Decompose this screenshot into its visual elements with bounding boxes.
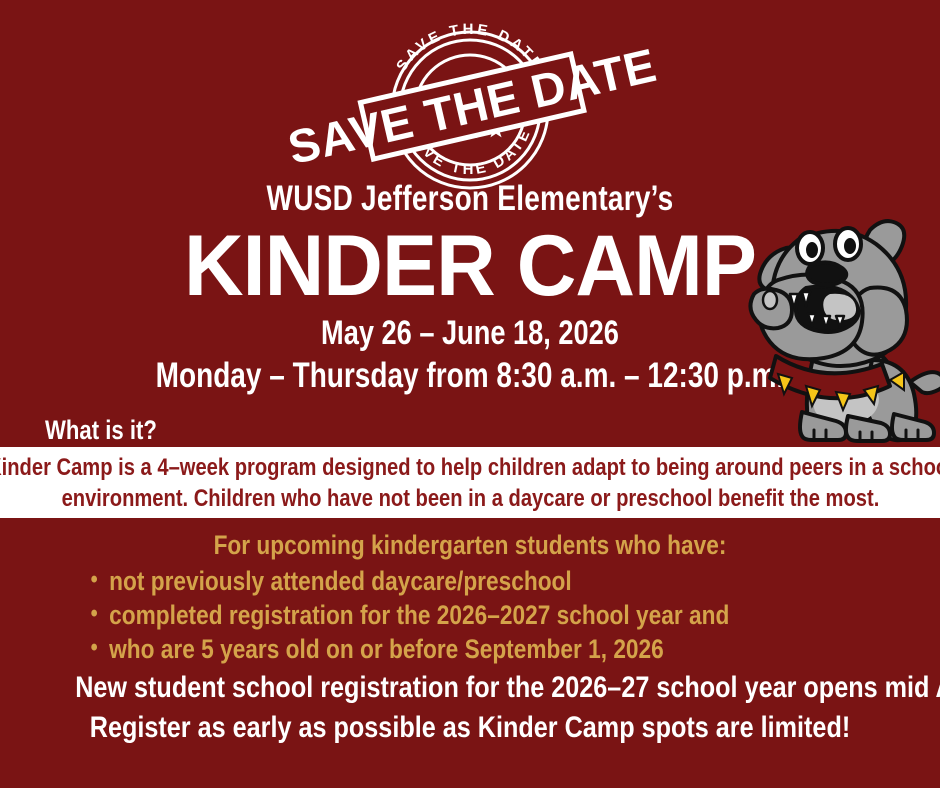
program-dates: May 26 – June 18, 2026 [94,313,846,353]
list-item: not previously attended daycare/preschoo… [89,564,729,598]
eligibility-list: not previously attended daycare/preschoo… [89,564,851,666]
save-the-date-stamp: SAVE THE DATE SAVE THE DATE SAVE THE DAT… [352,18,592,173]
cta-line-1: New student school registration for the … [75,668,865,708]
eligibility-heading: For upcoming kindergarten students who h… [75,528,865,562]
bulldog-mascot [744,214,940,452]
program-schedule: Monday – Thursday from 8:30 a.m. – 12:30… [94,355,846,397]
eligibility-block: For upcoming kindergarten students who h… [0,528,940,666]
cta-line-2: Register as early as possible as Kinder … [75,708,865,748]
description-line-1: Kinder Camp is a 4–week program designed… [0,452,940,483]
description-line-2: environment. Children who have not been … [0,483,940,514]
flyer-canvas: SAVE THE DATE SAVE THE DATE SAVE THE DAT… [0,0,940,788]
stamp-banner-text: SAVE THE DATE [283,38,661,174]
list-item: who are 5 years old on or before Septemb… [89,632,729,666]
description-band: Kinder Camp is a 4–week program designed… [0,447,940,518]
what-is-it-label: What is it? [45,414,157,446]
school-name: WUSD Jefferson Elementary’s [94,178,846,220]
registration-callout: New student school registration for the … [0,668,940,748]
list-item: completed registration for the 2026–2027… [89,598,729,632]
